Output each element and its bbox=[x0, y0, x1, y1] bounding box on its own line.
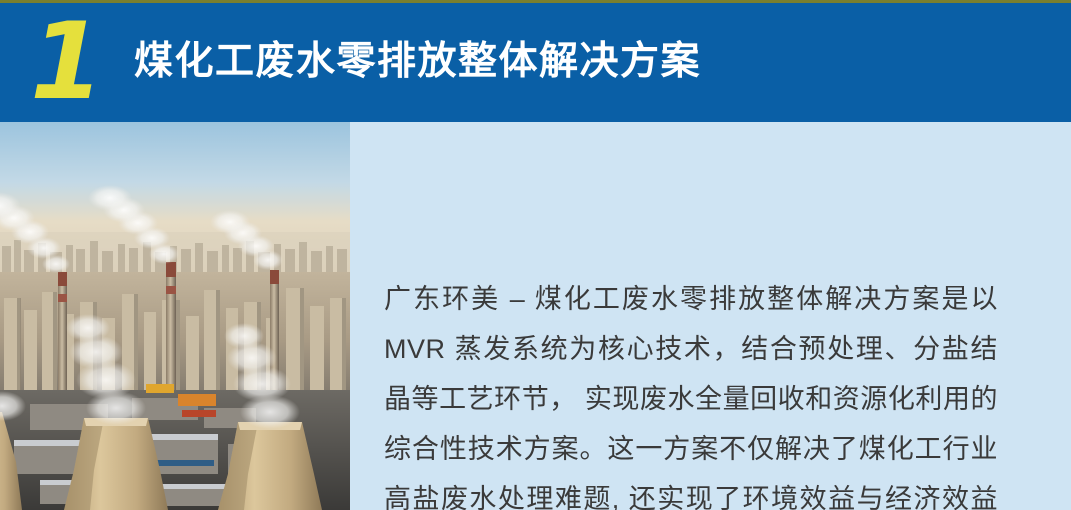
plant-accent-red bbox=[182, 410, 216, 417]
body-area: 广东环美 – 煤化工废水零排放整体解决方案是以 MVR 蒸发系统为核心技术，结合… bbox=[0, 122, 1071, 510]
header-inner: 1 煤化工废水零排放整体解决方案 bbox=[0, 3, 1071, 122]
industrial-plant-photo bbox=[0, 122, 350, 510]
slide-root: 1 煤化工废水零排放整体解决方案 bbox=[0, 0, 1071, 510]
page-title: 煤化工废水零排放整体解决方案 bbox=[134, 41, 701, 84]
solution-description: 广东环美 – 煤化工废水零排放整体解决方案是以 MVR 蒸发系统为核心技术，结合… bbox=[384, 274, 998, 510]
photo-illustration bbox=[0, 122, 350, 510]
section-number-badge: 1 bbox=[30, 18, 102, 108]
header-band: 1 煤化工废水零排放整体解决方案 bbox=[0, 3, 1071, 122]
plant-accent-yellow bbox=[146, 384, 174, 393]
plant-accent-orange bbox=[178, 394, 216, 406]
plant-accent-blue bbox=[150, 460, 214, 466]
section-number-label: 1 bbox=[30, 18, 102, 108]
